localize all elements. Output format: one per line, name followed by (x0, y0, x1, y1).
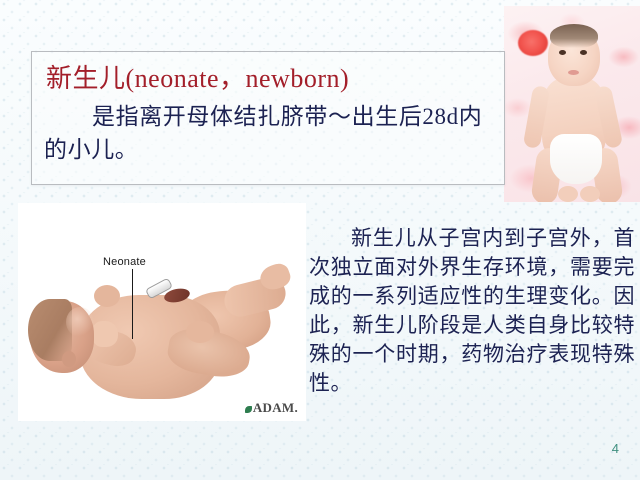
neonate-label: Neonate (103, 256, 146, 268)
infant-ear (62, 351, 76, 367)
hair-flower (518, 30, 548, 56)
photo-baby-hair (550, 24, 598, 48)
definition-body-text: 是指离开母体结扎脐带～出生后28d内的小儿。 (44, 100, 494, 166)
definition-box: 新生儿(neonate，newborn) 是指离开母体结扎脐带～出生后28d内的… (31, 51, 505, 185)
label-leader-line (132, 269, 133, 339)
neonate-illustration-panel: Neonate ADAM. (18, 203, 306, 421)
infant-shoulder (94, 285, 120, 307)
adam-watermark: ADAM. (245, 400, 298, 416)
infant-foot-lower (186, 321, 214, 343)
baby-photograph (504, 6, 640, 202)
adam-watermark-text: ADAM. (253, 400, 298, 415)
photo-baby-foot-right (580, 186, 600, 202)
term-title: 新生儿(neonate，newborn) (46, 58, 349, 95)
photo-baby-eye-left (559, 50, 566, 55)
photo-baby-diaper (550, 134, 602, 184)
infant-hand (92, 321, 118, 347)
slide-canvas: 新生儿(neonate，newborn) 是指离开母体结扎脐带～出生后28d内的… (0, 0, 640, 480)
right-paragraph-text: 新生儿从子宫内到子宫外，首次独立面对外界生存环境，需要完成的一系列适应性的生理变… (309, 224, 635, 398)
photo-baby-eye-right (580, 50, 587, 55)
photo-baby-foot-left (558, 186, 578, 202)
infant-face (66, 307, 94, 337)
photo-baby-mouth (568, 70, 579, 75)
leaf-icon (245, 406, 252, 413)
page-number: 4 (612, 441, 619, 456)
